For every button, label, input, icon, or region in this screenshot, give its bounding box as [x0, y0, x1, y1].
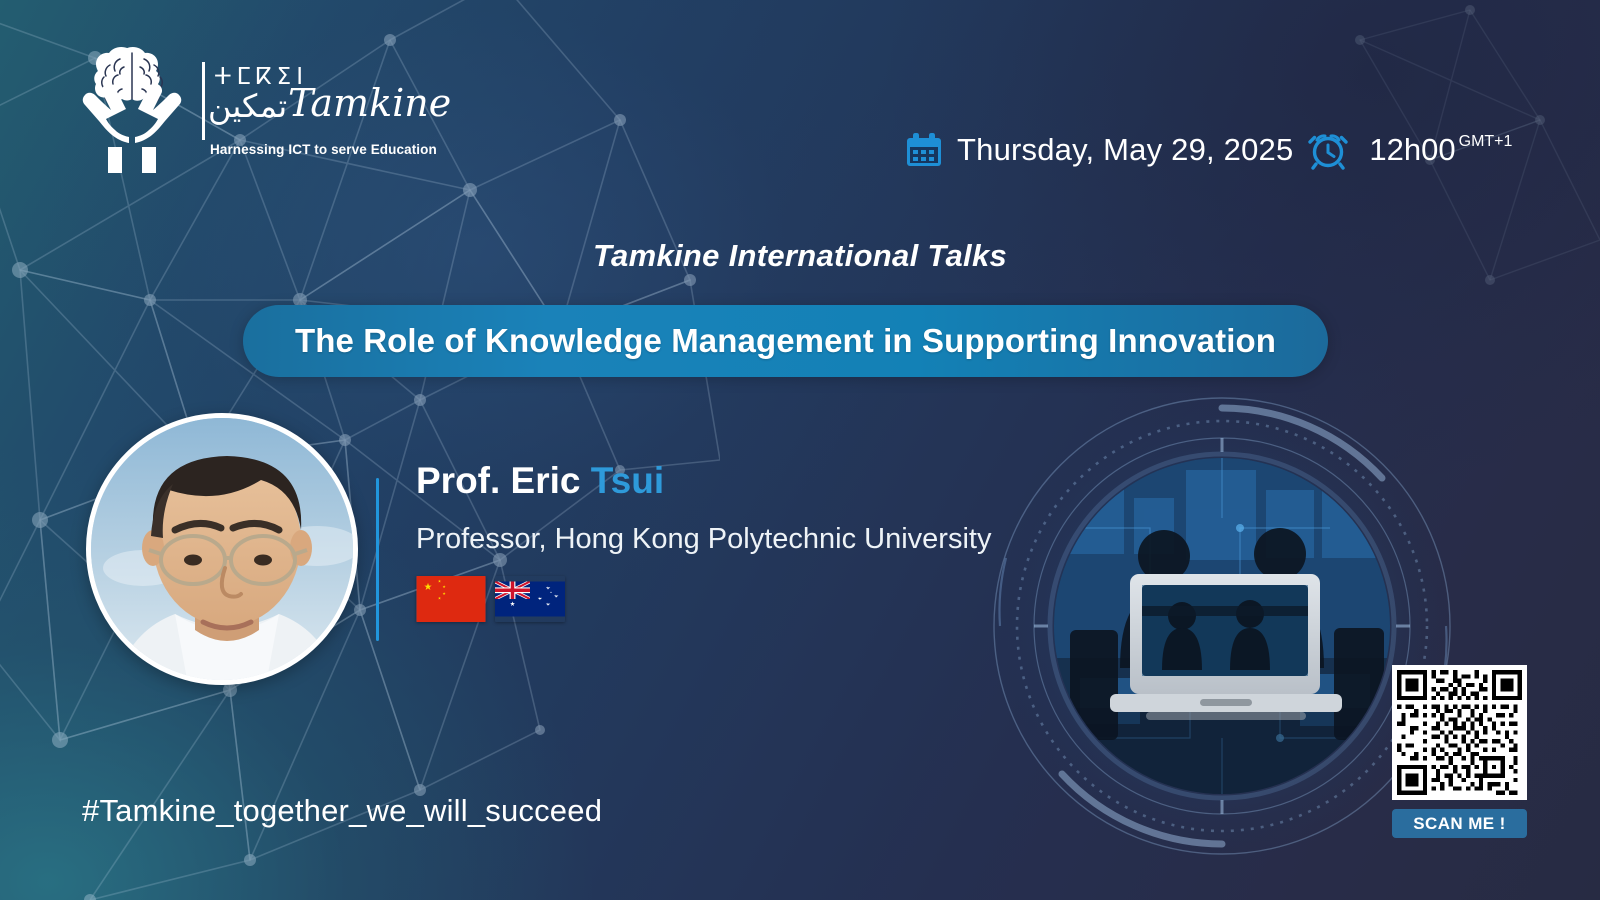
flag-australia — [495, 576, 565, 622]
speaker-flags — [416, 576, 991, 622]
event-series-label: Tamkine International Talks — [0, 238, 1600, 274]
logo-arabic-text: تمكين — [208, 90, 287, 122]
event-datetime: Thursday, May 29, 2025 12h00 GMT+1 — [905, 122, 1512, 178]
event-title-pill: The Role of Knowledge Management in Supp… — [243, 305, 1328, 377]
event-timezone: GMT+1 — [1459, 133, 1513, 151]
event-title: The Role of Knowledge Management in Supp… — [295, 322, 1276, 360]
tamkine-logo: ⵜⵎⴽⵉⵏ تمكين Tamkine Harnessing ICT to se… — [68, 36, 413, 181]
event-date: Thursday, May 29, 2025 — [957, 132, 1293, 168]
logo-tagline: Harnessing ICT to serve Education — [210, 142, 437, 157]
scan-me-button[interactable]: SCAN ME ! — [1392, 809, 1527, 838]
speaker-name-main: Prof. Eric — [416, 460, 591, 501]
calendar-icon — [905, 131, 943, 169]
qr-section[interactable]: SCAN ME ! — [1392, 665, 1527, 838]
logo-latin-text: Tamkine — [288, 84, 451, 122]
flag-china — [416, 576, 486, 622]
speaker-accent-bar — [376, 478, 379, 641]
webinar-poster: ⵜⵎⴽⵉⵏ تمكين Tamkine Harnessing ICT to se… — [0, 0, 1600, 900]
speaker-name-surname: Tsui — [591, 460, 664, 501]
qr-code-icon[interactable] — [1392, 665, 1527, 800]
event-time-group: 12h00 GMT+1 — [1369, 132, 1512, 168]
alarm-clock-icon — [1307, 129, 1349, 171]
hashtag: #Tamkine_together_we_will_succeed — [82, 793, 602, 829]
speaker-portrait — [86, 413, 358, 685]
speaker-affiliation: Professor, Hong Kong Polytechnic Univers… — [416, 523, 991, 556]
speaker-info: Prof. Eric Tsui Professor, Hong Kong Pol… — [416, 460, 991, 622]
hands-holding-brain-icon — [68, 39, 196, 179]
logo-wordmark: ⵜⵎⴽⵉⵏ تمكين Tamkine Harnessing ICT to se… — [202, 56, 407, 161]
speaker-name: Prof. Eric Tsui — [416, 460, 991, 503]
event-time: 12h00 — [1369, 132, 1455, 168]
logo-divider — [202, 62, 205, 140]
